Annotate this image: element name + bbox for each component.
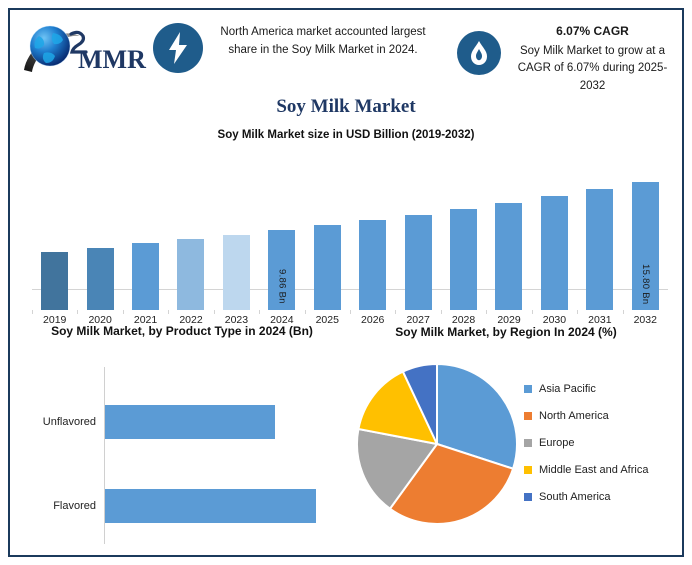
bar-chart-title: Soy Milk Market size in USD Billion (201… bbox=[10, 129, 682, 141]
bar bbox=[495, 203, 522, 310]
legend-item: Asia Pacific bbox=[524, 375, 679, 402]
bar-column: 9.86 Bn2024 bbox=[259, 168, 304, 310]
bar-column: 2020 bbox=[77, 168, 122, 310]
bar bbox=[41, 252, 68, 310]
cagr-value: 6.07% CAGR bbox=[505, 22, 680, 41]
infographic-frame: MMR North America market accounted large… bbox=[8, 8, 684, 557]
legend-swatch bbox=[524, 439, 532, 447]
legend-item: North America bbox=[524, 402, 679, 429]
page-title: Soy Milk Market bbox=[10, 96, 682, 118]
bar bbox=[314, 225, 341, 310]
logo-text: MMR bbox=[78, 45, 146, 74]
legend-item: South America bbox=[524, 483, 679, 510]
globe-icon: MMR bbox=[20, 20, 160, 78]
bar bbox=[405, 215, 432, 310]
bar-column: 2026 bbox=[350, 168, 395, 310]
bar-column: 2023 bbox=[214, 168, 259, 310]
legend-label: North America bbox=[539, 410, 609, 422]
bar bbox=[541, 196, 568, 310]
bar-value-label: 9.86 Bn bbox=[276, 269, 287, 304]
region-legend: Asia PacificNorth AmericaEuropeMiddle Ea… bbox=[524, 375, 679, 510]
legend-item: Middle East and Africa bbox=[524, 456, 679, 483]
region-pie-chart: Soy Milk Market, by Region In 2024 (%) A… bbox=[346, 323, 682, 553]
bar-column: 2019 bbox=[32, 168, 77, 310]
bar-value-label: 15.80 Bn bbox=[640, 264, 651, 304]
lightning-bolt-icon bbox=[153, 23, 203, 73]
bar-column: 2021 bbox=[123, 168, 168, 310]
bar bbox=[223, 235, 250, 310]
bar-column: 2029 bbox=[486, 168, 531, 310]
market-size-bar-chart: 201920202021202220239.86 Bn2024202520262… bbox=[32, 148, 668, 310]
bar bbox=[87, 248, 114, 310]
product-type-bar-chart: Soy Milk Market, by Product Type in 2024… bbox=[16, 323, 346, 553]
product-type-chart-title: Soy Milk Market, by Product Type in 2024… bbox=[34, 323, 330, 340]
cagr-description: Soy Milk Market to grow at a CAGR of 6.0… bbox=[518, 45, 668, 93]
bar bbox=[177, 239, 204, 310]
pie-graphic bbox=[354, 359, 519, 529]
bar: 9.86 Bn bbox=[268, 230, 295, 310]
bar-column: 2022 bbox=[168, 168, 213, 310]
bar bbox=[586, 189, 613, 310]
legend-label: Asia Pacific bbox=[539, 383, 596, 395]
horizontal-bar-row: Unflavored bbox=[105, 405, 275, 439]
category-label: Unflavored bbox=[43, 416, 96, 428]
legend-label: South America bbox=[539, 491, 611, 503]
bar-column: 2030 bbox=[532, 168, 577, 310]
legend-swatch bbox=[524, 466, 532, 474]
bar bbox=[132, 243, 159, 310]
legend-label: Europe bbox=[539, 437, 574, 449]
legend-swatch bbox=[524, 493, 532, 501]
horizontal-bar bbox=[105, 405, 275, 439]
bar-column: 15.80 Bn2032 bbox=[623, 168, 668, 310]
bar-column: 2028 bbox=[441, 168, 486, 310]
mmr-logo: MMR bbox=[20, 20, 160, 78]
category-label: Flavored bbox=[53, 500, 96, 512]
header-highlight-text: North America market accounted largest s… bbox=[208, 24, 438, 60]
bar-column: 2027 bbox=[395, 168, 440, 310]
legend-label: Middle East and Africa bbox=[539, 464, 648, 476]
water-drop-flame-icon bbox=[457, 31, 501, 75]
bar: 15.80 Bn bbox=[632, 182, 659, 310]
header-cagr-block: 6.07% CAGR Soy Milk Market to grow at a … bbox=[505, 22, 680, 96]
legend-swatch bbox=[524, 385, 532, 393]
legend-swatch bbox=[524, 412, 532, 420]
legend-item: Europe bbox=[524, 429, 679, 456]
bar-column: 2025 bbox=[305, 168, 350, 310]
region-chart-title: Soy Milk Market, by Region In 2024 (%) bbox=[346, 325, 666, 339]
bar bbox=[359, 220, 386, 310]
bar-column: 2031 bbox=[577, 168, 622, 310]
horizontal-bar bbox=[105, 489, 316, 523]
horizontal-bar-row: Flavored bbox=[105, 489, 316, 523]
header: MMR North America market accounted large… bbox=[10, 10, 682, 90]
bar bbox=[450, 209, 477, 310]
